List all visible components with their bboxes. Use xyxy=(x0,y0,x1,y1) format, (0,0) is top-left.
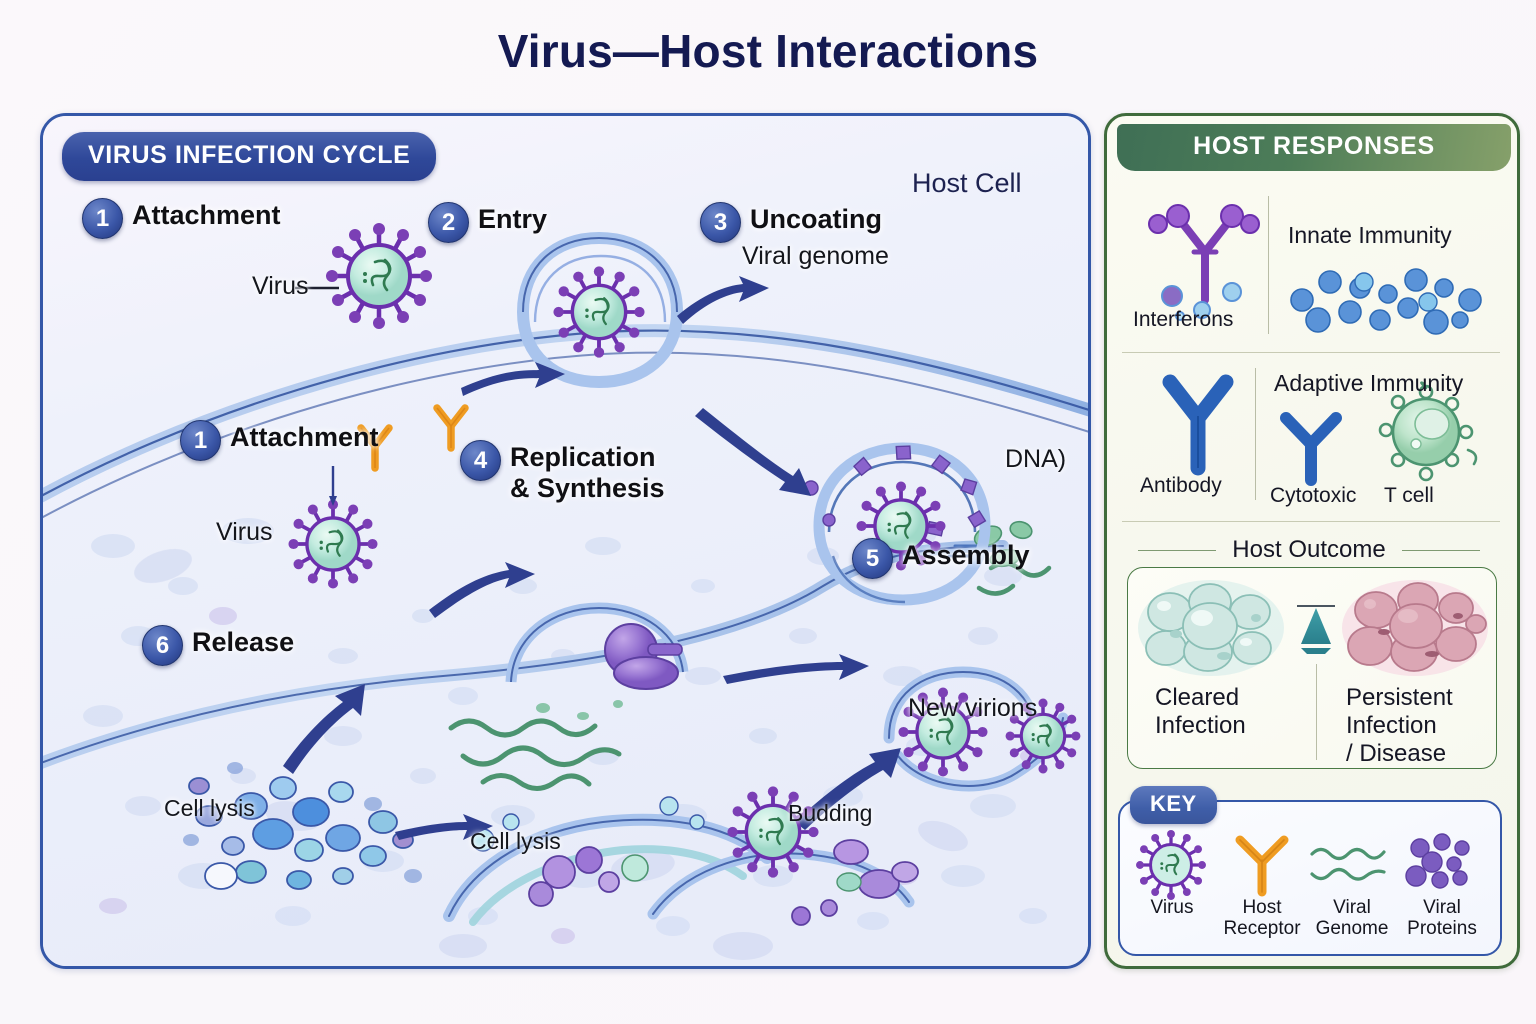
new-virions-label: New virions xyxy=(908,694,1037,723)
virus-label-mid: Virus xyxy=(216,518,273,547)
key-label-receptor: Host Receptor xyxy=(1214,898,1310,939)
host-outcome-title: Host Outcome xyxy=(1104,536,1514,564)
step-1-attachment: 1 Attachment xyxy=(82,198,281,239)
innate-cytokine-dots-icon xyxy=(1282,262,1487,340)
key-genome-line-2: Genome xyxy=(1306,919,1398,940)
step-number-4: 4 xyxy=(460,440,501,481)
persistent-infection-cells-icon xyxy=(1340,572,1490,680)
step-6-release: 6 Release xyxy=(142,625,294,666)
cleared-infection-caption: Cleared Infection xyxy=(1155,684,1246,740)
cell-lysis-label-left: Cell lysis xyxy=(164,795,255,822)
key-receptor-line-2: Receptor xyxy=(1214,919,1310,940)
diagram-canvas: Virus—Host Interactions xyxy=(0,0,1536,1024)
persistent-line-2: Infection xyxy=(1346,712,1453,740)
host-responses-badge: HOST RESPONSES xyxy=(1117,124,1511,171)
divider-outcome xyxy=(1316,664,1317,760)
key-label-virus: Virus xyxy=(1130,898,1214,919)
step-number-6: 6 xyxy=(142,625,183,666)
step-5-assembly: 5 Assembly xyxy=(852,538,1030,579)
persistent-line-1: Persistent xyxy=(1346,684,1453,712)
persistent-infection-caption: Persistent Infection / Disease xyxy=(1346,684,1453,768)
antibody-icon xyxy=(1152,368,1244,478)
step-number-3: 3 xyxy=(700,202,741,243)
cycle-panel-badge: VIRUS INFECTION CYCLE xyxy=(62,132,436,181)
receptor-icon xyxy=(1232,832,1292,896)
genome-icon xyxy=(1308,840,1394,890)
cell-lysis-label-mid: Cell lysis xyxy=(470,828,561,855)
step-label-release: Release xyxy=(192,625,294,656)
virus-icon xyxy=(1138,832,1204,898)
step-number-2: 2 xyxy=(428,202,469,243)
viral-genome-sublabel: Viral genome xyxy=(742,242,889,271)
balance-scale-icon xyxy=(1295,600,1337,660)
step-1b-attachment: 1 Attachment xyxy=(180,420,379,461)
page-title: Virus—Host Interactions xyxy=(0,24,1536,78)
key-proteins-line-2: Proteins xyxy=(1396,919,1488,940)
step-label-attachment-2: Attachment xyxy=(230,420,379,451)
step-label-entry: Entry xyxy=(478,202,547,233)
dna-label: DNA) xyxy=(1005,445,1066,474)
divider-innate-adaptive xyxy=(1122,352,1500,353)
cytotoxic-caption: Cytotoxic xyxy=(1270,484,1356,508)
divider-interferons-innate xyxy=(1268,196,1269,334)
tcell-caption: T cell xyxy=(1384,484,1434,508)
interferons-caption: Interferons xyxy=(1133,308,1233,332)
innate-immunity-title: Innate Immunity xyxy=(1288,222,1452,249)
step-number-5: 5 xyxy=(852,538,893,579)
cleared-infection-cells-icon xyxy=(1136,572,1286,680)
replication-line-2: & Synthesis xyxy=(510,471,665,502)
step-3-uncoating: 3 Uncoating xyxy=(700,202,882,243)
step-label-assembly: Assembly xyxy=(902,538,1030,569)
key-receptor-line-1: Host xyxy=(1214,898,1310,919)
step-label-attachment: Attachment xyxy=(132,198,281,229)
adaptive-immunity-title: Adaptive Immunity xyxy=(1274,370,1463,397)
key-badge: KEY xyxy=(1130,786,1217,824)
proteins-icon xyxy=(1404,834,1472,892)
cleared-line-1: Cleared xyxy=(1155,684,1246,712)
replication-line-1: Replication xyxy=(510,440,665,471)
host-cell-label: Host Cell xyxy=(912,168,1022,199)
budding-label: Budding xyxy=(788,800,872,827)
step-number-1b: 1 xyxy=(180,420,221,461)
step-label-uncoating: Uncoating xyxy=(750,202,882,233)
step-label-replication: Replication & Synthesis xyxy=(510,440,665,502)
interferon-icon xyxy=(1150,190,1260,320)
virus-label-top: Virus xyxy=(252,272,309,301)
cleared-line-2: Infection xyxy=(1155,712,1246,740)
step-2-entry: 2 Entry xyxy=(428,202,547,243)
step-number-1: 1 xyxy=(82,198,123,239)
divider-adaptive-outcome xyxy=(1122,521,1500,522)
divider-antibody-adaptive xyxy=(1255,368,1256,500)
key-proteins-line-1: Viral xyxy=(1396,898,1488,919)
persistent-line-3: / Disease xyxy=(1346,740,1453,768)
antibody-caption: Antibody xyxy=(1140,474,1222,498)
key-label-genome: Viral Genome xyxy=(1306,898,1398,939)
key-label-proteins: Viral Proteins xyxy=(1396,898,1488,939)
step-4-replication: 4 Replication & Synthesis xyxy=(460,440,665,502)
key-genome-line-1: Viral xyxy=(1306,898,1398,919)
key-virus-line-1: Virus xyxy=(1130,898,1214,919)
antibody-small-icon xyxy=(1272,408,1350,486)
